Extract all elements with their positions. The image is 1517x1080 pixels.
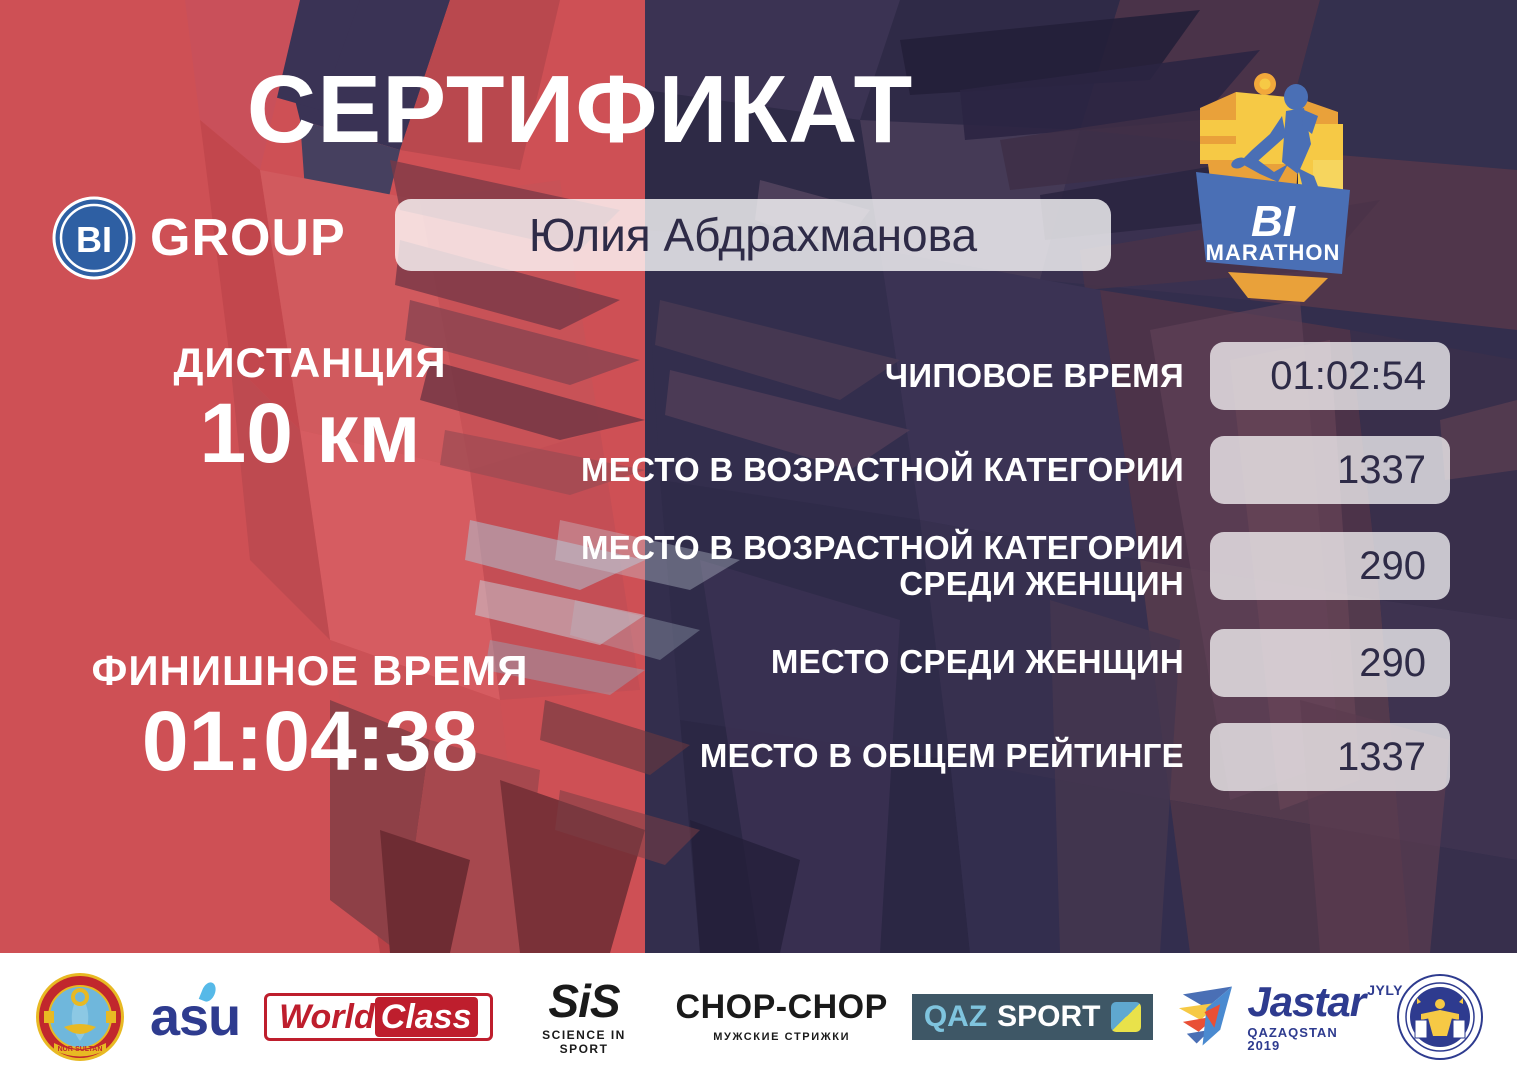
stat-value-pill: 290 (1210, 629, 1450, 697)
sponsor-jastar: Jastar QAZAQSTAN 2019 JYLY (1177, 971, 1374, 1063)
jastar-name-text: Jastar (1247, 981, 1373, 1023)
certificate-page: СЕРТИФИКАТ BI GROUP Юлия Абдрахманова (0, 0, 1517, 1080)
stat-value: 290 (1359, 643, 1426, 683)
stat-value-pill: 1337 (1210, 723, 1450, 791)
jastar-bird-icon (1177, 982, 1242, 1052)
stat-label: МЕСТО СРЕДИ ЖЕНЩИН (520, 644, 1184, 680)
bi-group-logo: BI GROUP (52, 196, 346, 280)
asu-text: asu (150, 987, 240, 1047)
stat-row: МЕСТО В ОБЩЕМ РЕЙТИНГЕ 1337 (520, 723, 1450, 791)
sponsor-qazsport: QAZSPORT (912, 971, 1153, 1063)
sponsor-asu: asu (150, 971, 240, 1063)
sponsor-world-class: WorldClass (264, 971, 492, 1063)
sponsor-ministry-seal (1397, 971, 1483, 1063)
stats-list: ЧИПОВОЕ ВРЕМЯ 01:02:54 МЕСТО В ВОЗРАСТНО… (520, 342, 1450, 817)
sponsor-sis: SiS SCIENCE IN SPORT (517, 971, 652, 1063)
stat-value: 1337 (1337, 450, 1426, 490)
jastar-jyly-text: JYLY (1367, 983, 1403, 997)
stat-row: ЧИПОВОЕ ВРЕМЯ 01:02:54 (520, 342, 1450, 410)
athlete-name-pill: Юлия Абдрахманова (395, 199, 1111, 271)
page-title: СЕРТИФИКАТ (0, 62, 1160, 158)
finish-time-label: ФИНИШНОЕ ВРЕМЯ (60, 648, 560, 693)
marathon-word-text: MARATHON (1206, 240, 1341, 265)
bi-circle-icon: BI (52, 196, 136, 280)
qazsport-wordmark: QAZSPORT (912, 994, 1153, 1040)
distance-block: ДИСТАНЦИЯ 10 км (60, 340, 560, 478)
stat-row: МЕСТО СРЕДИ ЖЕНЩИН 290 (520, 629, 1450, 697)
jastar-text-block: Jastar QAZAQSTAN 2019 JYLY (1247, 981, 1373, 1052)
stat-label: МЕСТО В ОБЩЕМ РЕЙТИНГЕ (520, 738, 1184, 774)
marathon-bi-text: BI (1251, 197, 1296, 246)
athlete-name: Юлия Абдрахманова (529, 212, 977, 258)
distance-value: 10 км (60, 389, 560, 477)
sis-wordmark: SiS SCIENCE IN SPORT (517, 978, 652, 1056)
distance-label: ДИСТАНЦИЯ (60, 340, 560, 385)
sponsor-nur-sultan-emblem: NUR-SULTAN (34, 971, 126, 1063)
stat-row: МЕСТО В ВОЗРАСТНОЙ КАТЕГОРИИ 1337 (520, 436, 1450, 504)
chop-chop-wordmark: CHOP-CHOP МУЖСКИЕ СТРИЖКИ (676, 990, 888, 1043)
stat-value: 01:02:54 (1270, 356, 1426, 396)
world-class-wordmark: WorldClass (264, 993, 492, 1041)
class-text: Class (375, 997, 478, 1037)
stat-value: 290 (1359, 546, 1426, 586)
nur-sultan-text: NUR-SULTAN (58, 1046, 103, 1053)
svg-text:BI: BI (76, 219, 112, 260)
stat-row: МЕСТО В ВОЗРАСТНОЙ КАТЕГОРИИ СРЕДИ ЖЕНЩИ… (520, 530, 1450, 603)
sponsor-chop-chop: CHOP-CHOP МУЖСКИЕ СТРИЖКИ (676, 971, 888, 1063)
finish-time-value: 01:04:38 (60, 697, 560, 785)
stat-label: ЧИПОВОЕ ВРЕМЯ (520, 358, 1184, 394)
jastar-year-text: QAZAQSTAN 2019 (1247, 1026, 1373, 1052)
stat-value: 1337 (1337, 737, 1426, 777)
sis-big-text: SiS (517, 978, 652, 1024)
chop-big-text: CHOP-CHOP (676, 990, 888, 1024)
stat-label: МЕСТО В ВОЗРАСТНОЙ КАТЕГОРИИ СРЕДИ ЖЕНЩИ… (520, 530, 1184, 603)
asu-wordmark: asu (150, 990, 240, 1044)
stat-value-pill: 290 (1210, 532, 1450, 600)
jastar-logo: Jastar QAZAQSTAN 2019 JYLY (1177, 981, 1374, 1052)
bi-marathon-logo: BI MARATHON (1178, 64, 1378, 308)
world-text: World (279, 998, 375, 1036)
finish-time-block: ФИНИШНОЕ ВРЕМЯ 01:04:38 (60, 648, 560, 786)
sis-tagline-text: SCIENCE IN SPORT (517, 1028, 652, 1056)
sponsor-bar: NUR-SULTAN asu WorldClass SiS SCIENCE IN… (0, 953, 1517, 1080)
stat-label: МЕСТО В ВОЗРАСТНОЙ КАТЕГОРИИ (520, 452, 1184, 488)
stat-value-pill: 1337 (1210, 436, 1450, 504)
stat-value-pill: 01:02:54 (1210, 342, 1450, 410)
chop-tagline-text: МУЖСКИЕ СТРИЖКИ (676, 1031, 888, 1043)
bi-group-wordmark: GROUP (150, 212, 346, 264)
qazsport-tile-icon (1111, 1002, 1141, 1032)
qaz-text: QAZ (924, 1002, 987, 1032)
sport-text: SPORT (997, 1002, 1100, 1032)
